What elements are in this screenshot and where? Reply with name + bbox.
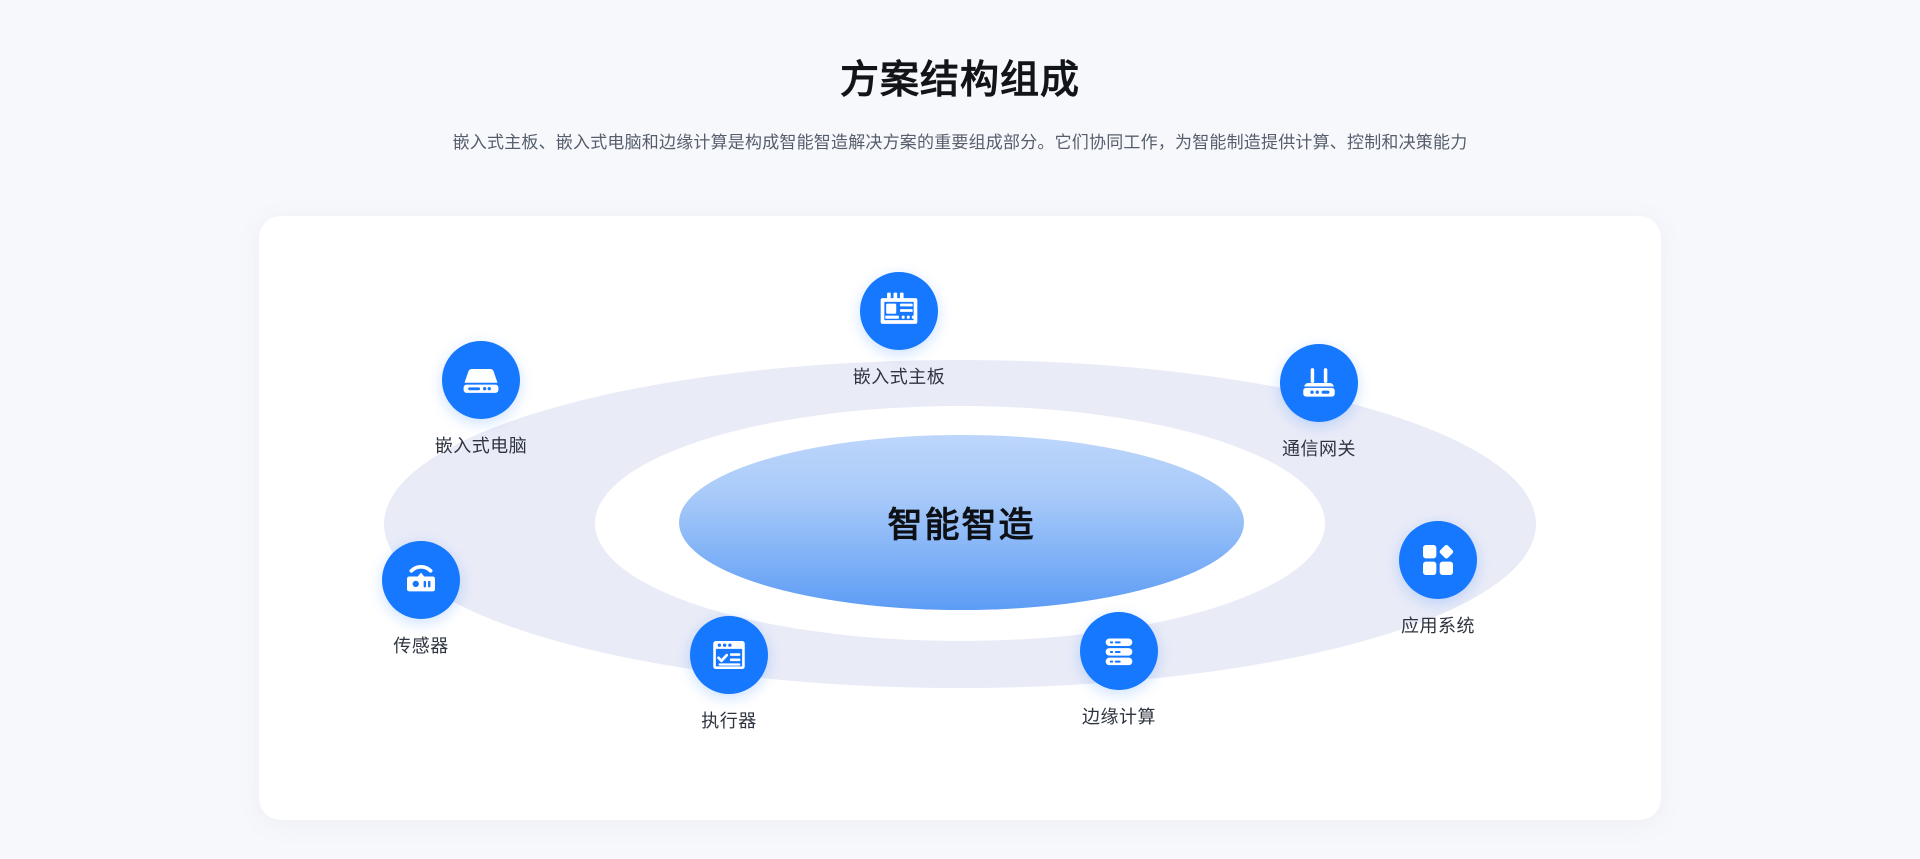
node-appsys[interactable]: 应用系统 (1363, 521, 1513, 638)
node-mainboard[interactable]: 嵌入式主板 (824, 272, 974, 389)
node-actuator-circle[interactable] (690, 616, 768, 694)
orbit-diagram: 智能智造 (259, 216, 1661, 820)
node-sensor[interactable]: 传感器 (346, 541, 496, 658)
node-edge-label: 边缘计算 (1082, 703, 1156, 729)
mini-pc-icon (459, 358, 503, 402)
node-sensor-label: 传感器 (393, 632, 449, 658)
sensor-icon (400, 559, 442, 601)
checklist-window-icon (708, 634, 750, 676)
router-icon (1298, 362, 1340, 404)
core-label: 智能智造 (887, 497, 1035, 548)
diagram-card: 智能智造 (259, 216, 1661, 820)
node-sensor-circle[interactable] (382, 541, 460, 619)
node-computer-label: 嵌入式电脑 (435, 432, 528, 458)
node-appsys-circle[interactable] (1399, 521, 1477, 599)
node-edge-circle[interactable] (1080, 612, 1158, 690)
node-computer-circle[interactable] (442, 341, 520, 419)
node-edge[interactable]: 边缘计算 (1044, 612, 1194, 729)
node-gateway-circle[interactable] (1280, 344, 1358, 422)
node-actuator-label: 执行器 (701, 707, 757, 733)
page-root: 方案结构组成 嵌入式主板、嵌入式电脑和边缘计算是构成智能智造解决方案的重要组成部… (0, 0, 1920, 859)
node-appsys-label: 应用系统 (1401, 612, 1475, 638)
core-ellipse: 智能智造 (679, 435, 1244, 610)
circuit-board-icon (877, 289, 921, 333)
node-gateway-label: 通信网关 (1282, 435, 1356, 461)
node-mainboard-circle[interactable] (860, 272, 938, 350)
page-subtitle: 嵌入式主板、嵌入式电脑和边缘计算是构成智能智造解决方案的重要组成部分。它们协同工… (0, 129, 1920, 156)
app-grid-icon (1418, 540, 1458, 580)
node-computer[interactable]: 嵌入式电脑 (406, 341, 556, 458)
page-header: 方案结构组成 嵌入式主板、嵌入式电脑和边缘计算是构成智能智造解决方案的重要组成部… (0, 0, 1920, 156)
server-rack-icon (1099, 631, 1139, 671)
page-title: 方案结构组成 (0, 54, 1920, 109)
node-gateway[interactable]: 通信网关 (1244, 344, 1394, 461)
node-mainboard-label: 嵌入式主板 (853, 363, 946, 389)
node-actuator[interactable]: 执行器 (654, 616, 804, 733)
